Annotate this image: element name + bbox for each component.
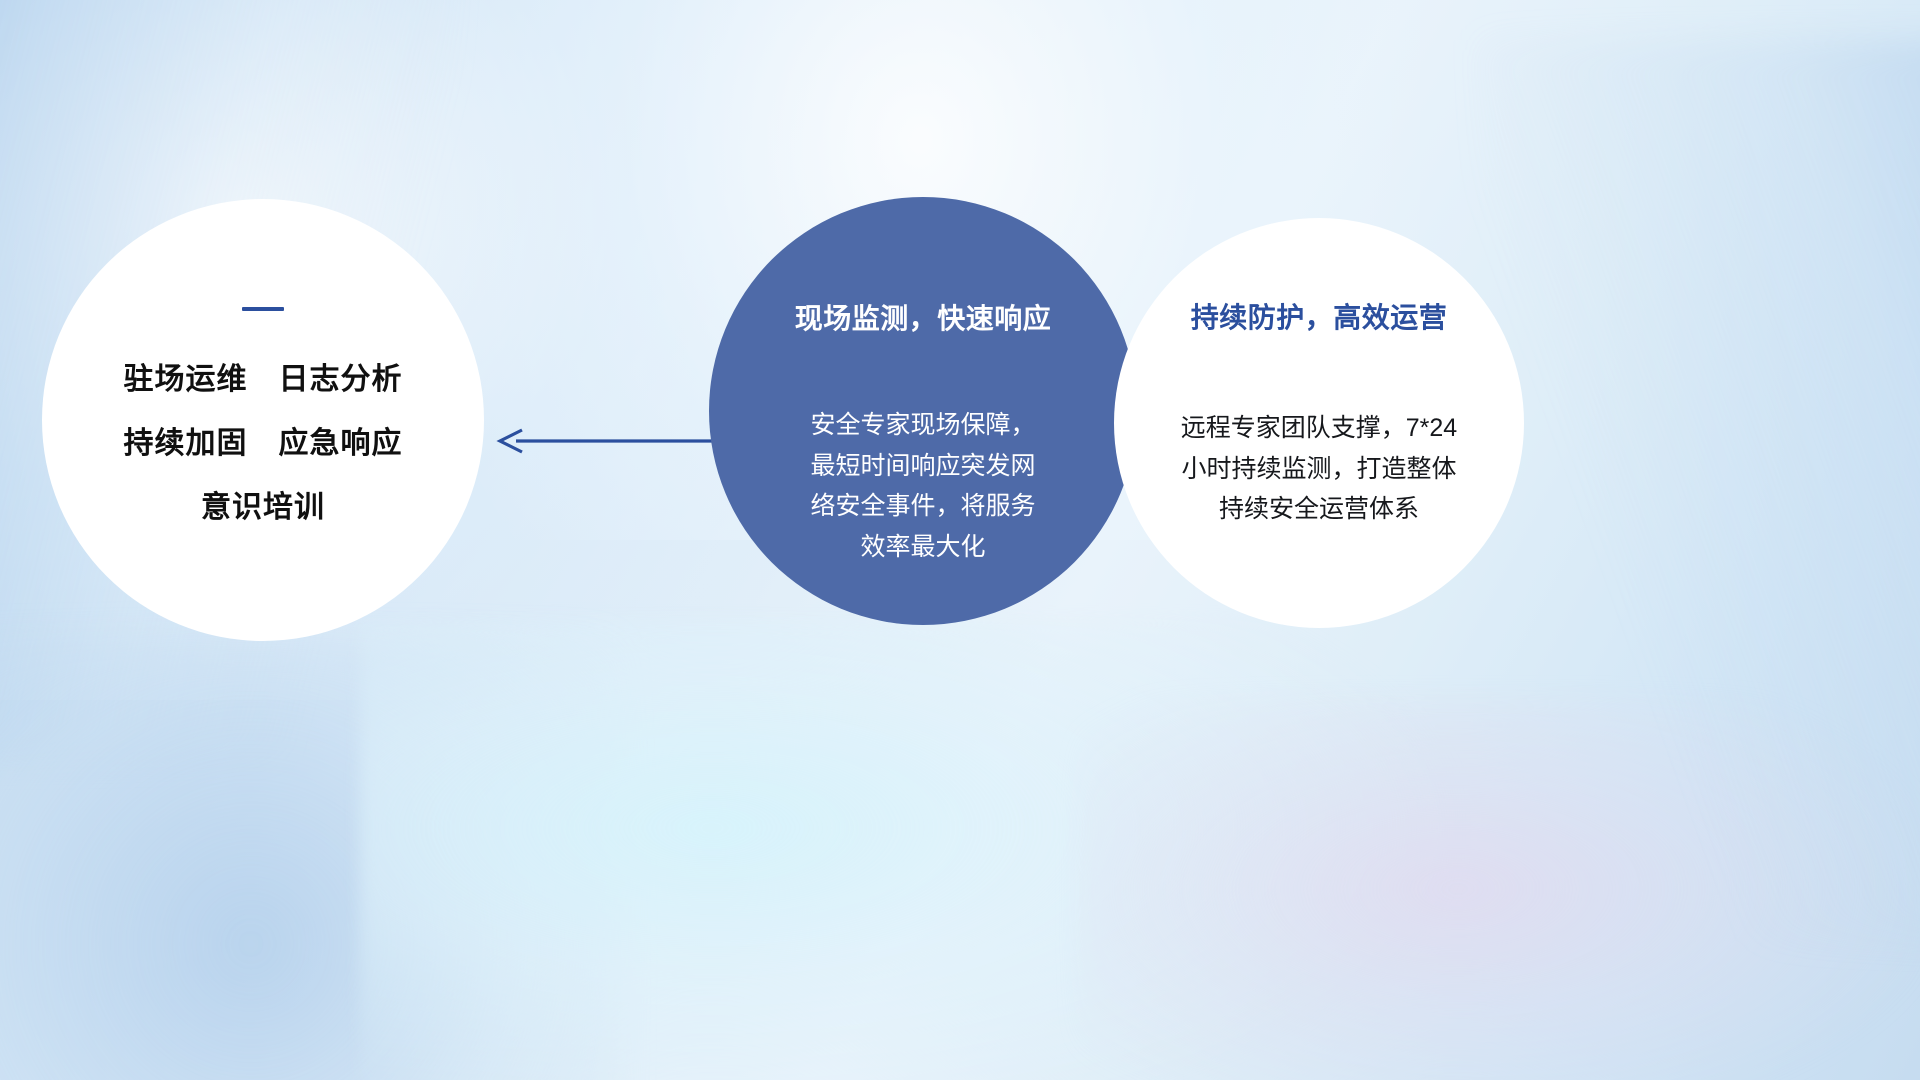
circle-continuous-protection[interactable]: 持续防护，高效运营 远程专家团队支撑，7*24 小时持续监测，打造整体 持续安全…: [1114, 218, 1524, 628]
background-streak-right: [1480, 40, 1920, 940]
middle-heading: 现场监测，快速响应: [709, 305, 1137, 333]
middle-circle-content: 现场监测，快速响应 安全专家现场保障， 最短时间响应突发网 络安全事件，将服务 …: [709, 305, 1137, 567]
right-body-line-2: 小时持续监测，打造整体: [1114, 449, 1524, 490]
arrow-middle-to-left: [492, 422, 714, 460]
left-circle-content: 驻场运维 日志分析 持续加固 应急响应 意识培训: [42, 307, 484, 523]
right-body-line-3: 持续安全运营体系: [1114, 489, 1524, 530]
slide-canvas: 驻场运维 日志分析 持续加固 应急响应 意识培训 现场监测，快速响应 安全专家现…: [0, 0, 1920, 1080]
circle-onsite-capabilities[interactable]: 驻场运维 日志分析 持续加固 应急响应 意识培训: [42, 199, 484, 641]
middle-body-line-3: 络安全事件，将服务: [709, 486, 1137, 527]
middle-body-line-2: 最短时间响应突发网: [709, 446, 1137, 487]
arrow-icon: [492, 422, 714, 460]
middle-body-line-1: 安全专家现场保障，: [709, 405, 1137, 446]
right-circle-content: 持续防护，高效运营 远程专家团队支撑，7*24 小时持续监测，打造整体 持续安全…: [1114, 304, 1524, 530]
circle-onsite-monitoring[interactable]: 现场监测，快速响应 安全专家现场保障， 最短时间响应突发网 络安全事件，将服务 …: [709, 197, 1137, 625]
middle-body: 安全专家现场保障， 最短时间响应突发网 络安全事件，将服务 效率最大化: [709, 405, 1137, 567]
capability-line-3: 意识培训: [42, 493, 484, 523]
capability-line-2: 持续加固 应急响应: [42, 429, 484, 459]
right-body-line-1: 远程专家团队支撑，7*24: [1114, 408, 1524, 449]
right-heading: 持续防护，高效运营: [1114, 304, 1524, 332]
divider-dash: [242, 307, 284, 311]
right-body: 远程专家团队支撑，7*24 小时持续监测，打造整体 持续安全运营体系: [1114, 408, 1524, 530]
middle-body-line-4: 效率最大化: [709, 527, 1137, 568]
capability-line-1: 驻场运维 日志分析: [42, 365, 484, 395]
